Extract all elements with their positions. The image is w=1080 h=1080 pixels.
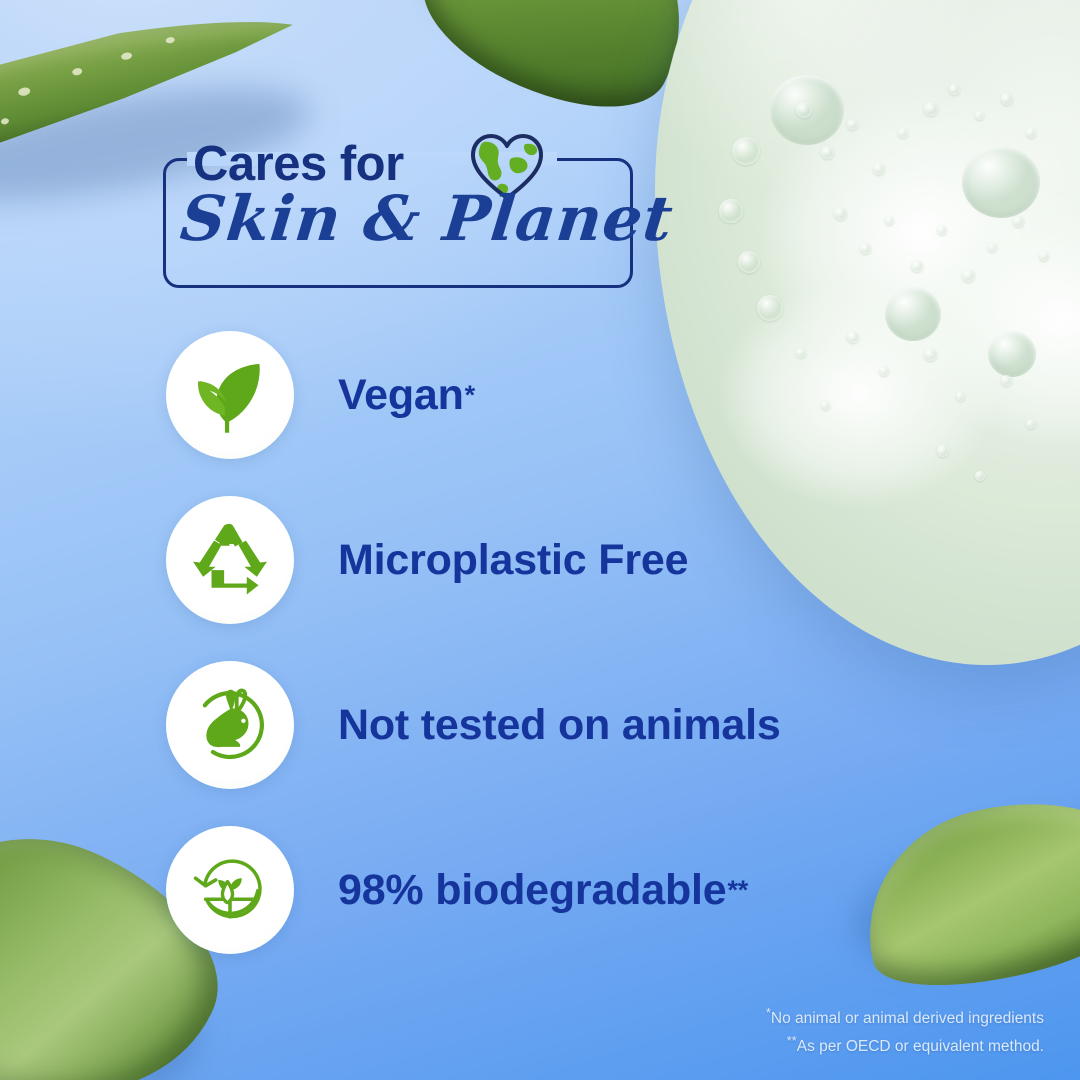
footnotes: *No animal or animal derived ingredients… <box>766 1003 1044 1058</box>
claim-label: Microplastic Free <box>338 496 689 624</box>
claim-label: Vegan* <box>338 331 475 459</box>
cares-for-badge: Cares for Skin & Planet <box>163 158 633 288</box>
footnote-line-1: *No animal or animal derived ingredients <box>766 1003 1044 1030</box>
biodegradable-icon <box>188 848 272 932</box>
footnote-line-2: **As per OECD or equivalent method. <box>766 1031 1044 1058</box>
claim-icon-disc <box>166 331 294 459</box>
claim-icon-disc <box>166 826 294 954</box>
claim-item-biodegradable: 98% biodegradable** <box>166 826 946 991</box>
claim-item-microplastic-free: Microplastic Free <box>166 496 946 661</box>
claims-list: Vegan* Microplastic Free <box>166 331 946 991</box>
claim-label: Not tested on animals <box>338 661 782 789</box>
claim-icon-disc <box>166 661 294 789</box>
footnote-marker: ** <box>787 1033 797 1048</box>
rabbit-icon <box>188 683 272 767</box>
footnote-text: No animal or animal derived ingredients <box>771 1010 1044 1027</box>
leaf-icon <box>188 353 272 437</box>
poster-canvas: Cares for Skin & Planet <box>0 0 1080 1080</box>
badge-line-2: Skin & Planet <box>178 188 615 250</box>
claim-label-text: Not tested on animals <box>338 701 781 750</box>
claim-label: 98% biodegradable** <box>338 826 748 954</box>
claim-label-text: 98% biodegradable <box>338 866 727 915</box>
claim-label-text: Vegan <box>338 371 464 420</box>
claim-item-vegan: Vegan* <box>166 331 946 496</box>
claim-item-not-tested-on-animals: Not tested on animals <box>166 661 946 826</box>
claim-icon-disc <box>166 496 294 624</box>
recycle-icon <box>188 518 272 602</box>
claim-label-text: Microplastic Free <box>338 536 688 585</box>
footnote-text: As per OECD or equivalent method. <box>797 1038 1044 1055</box>
